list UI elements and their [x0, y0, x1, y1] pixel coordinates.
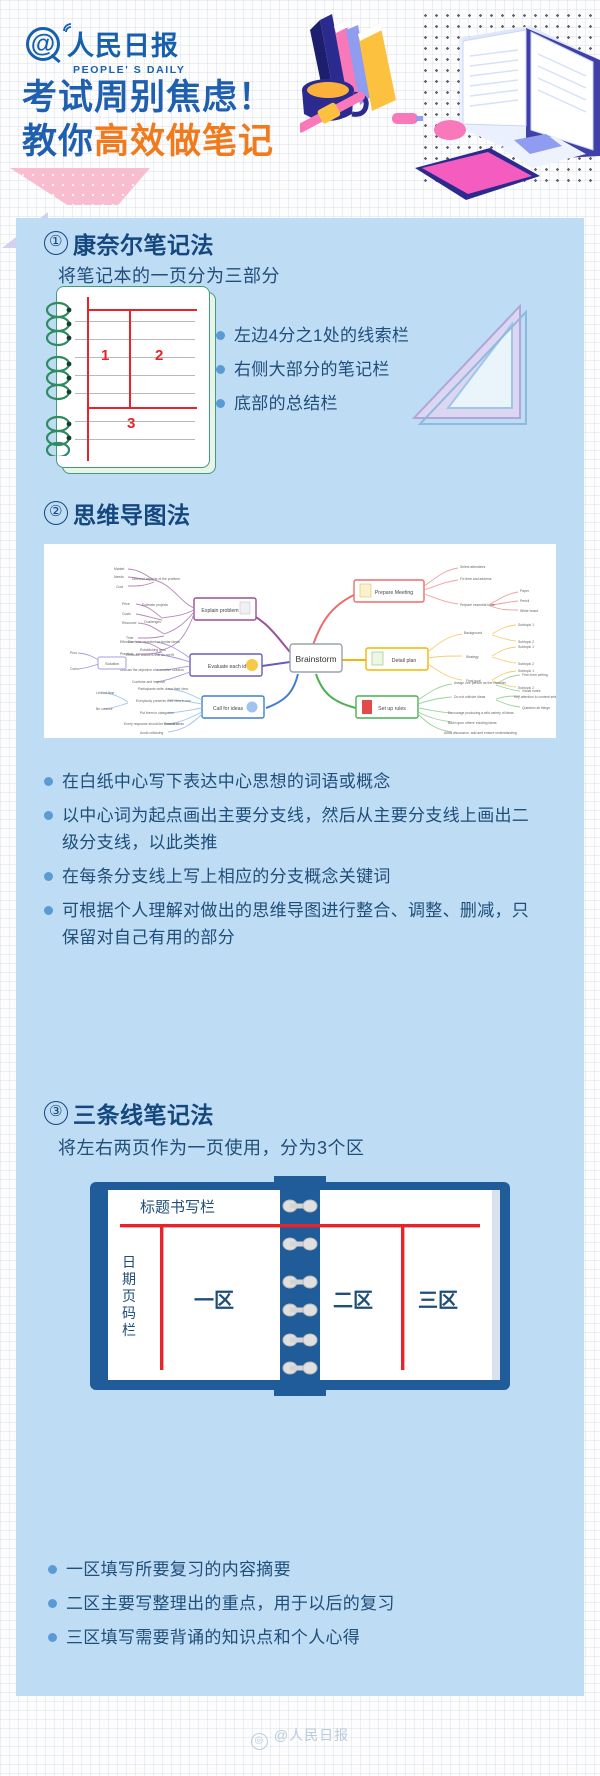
svg-text:Paper: Paper [520, 589, 530, 593]
list-item: 左边4分之1处的线索栏 [216, 322, 516, 349]
svg-text:Key attention to content selec: Key attention to content selection [514, 695, 556, 699]
mindmap-node-evaluate-each-idea: Evaluate each idea [208, 664, 252, 670]
mindmap-center-label: Brainstorm [295, 654, 336, 664]
bullet-text: 在白纸中心写下表达中心思想的词语或概念 [62, 768, 544, 795]
svg-text:Cost: Cost [116, 585, 123, 589]
svg-text:Discuss the objective of a cre: Discuss the objective of a creative solu… [120, 668, 184, 672]
list-item: 底部的总结栏 [216, 390, 516, 417]
notebook-zone-2-label: 二区 [333, 1284, 373, 1313]
bullet-dot-icon [48, 1633, 57, 1642]
notebook-zone-3-label: 三区 [418, 1284, 458, 1313]
svg-text:Put them in categories: Put them in categories [140, 711, 174, 715]
title-line-2-prefix: 教你 [22, 122, 94, 161]
svg-text:Assign one person as the recor: Assign one person as the recorder [454, 681, 507, 685]
svg-text:Question all things: Question all things [522, 706, 550, 710]
svg-text:Build upon others' existing id: Build upon others' existing ideas [448, 721, 497, 725]
svg-text:Limited time: Limited time [96, 691, 114, 695]
svg-text:Fix time and address: Fix time and address [460, 577, 492, 581]
list-item: 以中心词为起点画出主要分支线，然后从主要分支线上画出二级分支线，以此类推 [44, 802, 544, 856]
svg-text:Eliminate answers that do not: Eliminate answers that do not fit [126, 653, 174, 657]
mindmap-illustration: Brainstorm Explain problem Prepare Meeti… [44, 544, 556, 738]
brand-name-en: PEOPLE' S DAILY [73, 64, 185, 76]
notebook-header-label: 标题书写栏 [140, 1196, 215, 1217]
svg-text:Select attendees: Select attendees [460, 565, 486, 569]
list-item: 右侧大部分的笔记栏 [216, 356, 516, 383]
title-line-2: 教你高效做笔记 [22, 120, 274, 164]
bullet-dot-icon [44, 906, 53, 915]
spiral-binding-icon [44, 298, 78, 456]
section-3-number: ③ [44, 1101, 68, 1125]
bullet-text: 在每条分支线上写上相应的分支概念关键词 [62, 863, 544, 890]
svg-text:Avoid criticizing: Avoid criticizing [140, 731, 163, 735]
svg-text:Do not criticize ideas: Do not criticize ideas [454, 695, 486, 699]
footer-handle: @人民日报 [274, 1727, 349, 1743]
bullet-dot-icon [44, 811, 53, 820]
bullet-text: 一区填写所要复习的内容摘要 [66, 1556, 548, 1583]
svg-text:Different aspects of the probl: Different aspects of the problem [132, 577, 180, 581]
footer-watermark: ◎@人民日报 [0, 1725, 600, 1750]
desk-illustration [300, 8, 600, 203]
svg-text:Solution: Solution [105, 662, 119, 666]
bullet-dot-icon [48, 1599, 57, 1608]
section-3-heading: ③ 三条线笔记法 [44, 1096, 214, 1130]
title-line-1: 考试周别焦虑！ [22, 76, 274, 120]
svg-text:Prepare essential tools: Prepare essential tools [460, 603, 495, 607]
svg-text:Pencil: Pencil [520, 599, 529, 603]
list-item: 一区填写所要复习的内容摘要 [48, 1556, 548, 1583]
svg-text:Combine and improve: Combine and improve [132, 680, 165, 684]
svg-text:Challenges: Challenges [144, 620, 161, 624]
at-logo-icon: @ [26, 27, 60, 61]
svg-text:Background: Background [464, 631, 482, 635]
svg-text:Record ideas: Record ideas [164, 722, 184, 726]
svg-text:Allow discussion, add and ensu: Allow discussion, add and ensure underst… [444, 731, 517, 735]
svg-text:Subtopic 2: Subtopic 2 [518, 640, 534, 644]
notebook-zone-1-label: 一区 [194, 1284, 234, 1313]
svg-text:Free-form writing: Free-form writing [522, 673, 548, 677]
mindmap-node-detail-plan: Detail plan [392, 658, 417, 664]
brand-name-cn: 人民日报 [67, 24, 179, 63]
svg-text:Price: Price [122, 602, 130, 606]
mindmap-node-prepare-meeting: Prepare Meeting [375, 590, 413, 596]
svg-text:Resource: Resource [122, 621, 137, 625]
page-title: 考试周别焦虑！ 教你高效做笔记 [22, 76, 274, 164]
svg-text:Everybody presents their idea: Everybody presents their idea in turn [136, 699, 191, 703]
bullet-text: 以中心词为起点画出主要分支线，然后从主要分支线上画出二级分支线，以此类推 [62, 802, 544, 856]
section-2-heading: ② 思维导图法 [44, 496, 191, 530]
bullet-text: 左边4分之1处的线索栏 [234, 322, 516, 349]
list-item: 在每条分支线上写上相应的分支概念关键词 [44, 863, 544, 890]
three-line-notebook-diagram: 标题书写栏 日期页码栏 一区 二区 三区 [88, 1176, 512, 1396]
bullet-dot-icon [44, 777, 53, 786]
svg-text:Cons: Cons [70, 667, 78, 671]
bullet-dot-icon [216, 399, 225, 408]
list-item: 三区填写需要背诵的知识点和个人心得 [48, 1624, 548, 1651]
bullet-dot-icon [216, 331, 225, 340]
svg-text:Pros: Pros [70, 651, 77, 655]
header: @ 人民日报 PEOPLE' S DAILY 考试周别焦虑！ 教你高效做笔记 [0, 0, 600, 205]
cornell-zone-2-label: 2 [155, 347, 163, 364]
notebook-side-label: 日期页码栏 [122, 1254, 138, 1339]
cornell-notebook-diagram: 1 2 3 [56, 286, 208, 468]
bullet-text: 底部的总结栏 [234, 390, 516, 417]
list-item: 二区主要写整理出的重点，用于以后的复习 [48, 1590, 548, 1617]
svg-text:Strategy: Strategy [466, 655, 479, 659]
bullet-dot-icon [48, 1565, 57, 1574]
svg-text:Costs: Costs [122, 612, 131, 616]
cornell-zone-1-label: 1 [101, 347, 109, 364]
bullet-text: 可根据个人理解对做出的思维导图进行整合、调整、删减，只保留对自己有用的部分 [62, 897, 544, 951]
svg-text:Visual notes: Visual notes [522, 689, 541, 693]
list-item: 可根据个人理解对做出的思维导图进行整合、调整、删减，只保留对自己有用的部分 [44, 897, 544, 951]
svg-text:Subtopic 2: Subtopic 2 [518, 662, 534, 666]
svg-text:White board: White board [520, 609, 538, 613]
svg-text:Be concise: Be concise [96, 707, 113, 711]
notebook-front-page: 1 2 3 [56, 286, 210, 468]
weibo-icon: ◎ [251, 1733, 268, 1750]
section-1-number: ① [44, 231, 68, 255]
bullet-text: 三区填写需要背诵的知识点和个人心得 [66, 1624, 548, 1651]
bullet-text: 二区主要写整理出的重点，用于以后的复习 [66, 1590, 548, 1617]
section-1-title: 康奈尔笔记法 [73, 226, 214, 260]
section-2-number: ② [44, 501, 68, 525]
section-2-title: 思维导图法 [73, 496, 191, 530]
section-3-bullets: 一区填写所要复习的内容摘要 二区主要写整理出的重点，用于以后的复习 三区填写需要… [48, 1556, 548, 1658]
infographic-page: @ 人民日报 PEOPLE' S DAILY 考试周别焦虑！ 教你高效做笔记 ①… [0, 0, 600, 1776]
brand-logo: @ 人民日报 PEOPLE' S DAILY [26, 24, 185, 76]
cornell-zone-3-label: 3 [127, 415, 135, 432]
mindmap-node-explain-problem: Explain problem [201, 608, 238, 614]
wifi-icon [62, 22, 76, 36]
svg-text:Combine repeated or similar id: Combine repeated or similar ideas [128, 640, 180, 644]
title-line-2-highlight: 高效做笔记 [94, 122, 274, 161]
bullet-dot-icon [44, 872, 53, 881]
mindmap-node-set-up-rules: Set up rules [378, 706, 406, 712]
bullet-text: 右侧大部分的笔记栏 [234, 356, 516, 383]
svg-text:Estimate projects: Estimate projects [142, 603, 168, 607]
pink-triangle-dots [18, 170, 138, 205]
svg-text:Establishing goal: Establishing goal [140, 648, 166, 652]
svg-text:Subtopic 1: Subtopic 1 [518, 645, 534, 649]
section-1-bullets: 左边4分之1处的线索栏 右侧大部分的笔记栏 底部的总结栏 [216, 322, 516, 424]
section-3-title: 三条线笔记法 [73, 1096, 214, 1130]
list-item: 在白纸中心写下表达中心思想的词语或概念 [44, 768, 544, 795]
svg-text:Participants write down their: Participants write down their idea [138, 687, 188, 691]
mindmap-node-call-for-ideas: Call for ideas [213, 706, 244, 712]
svg-text:Market: Market [114, 567, 124, 571]
section-1-subtitle: 将笔记本的一页分为三部分 [58, 262, 280, 288]
section-3-subtitle: 将左右两页作为一页使用，分为3个区 [58, 1134, 365, 1160]
svg-text:Encourage producing a wild var: Encourage producing a wild variety of id… [448, 711, 514, 715]
bullet-dot-icon [216, 365, 225, 374]
svg-text:Subtopic 1: Subtopic 1 [518, 623, 534, 627]
svg-text:Needs: Needs [114, 575, 124, 579]
section-1-heading: ① 康奈尔笔记法 [44, 226, 214, 260]
section-2-bullets: 在白纸中心写下表达中心思想的词语或概念 以中心词为起点画出主要分支线，然后从主要… [44, 768, 544, 958]
